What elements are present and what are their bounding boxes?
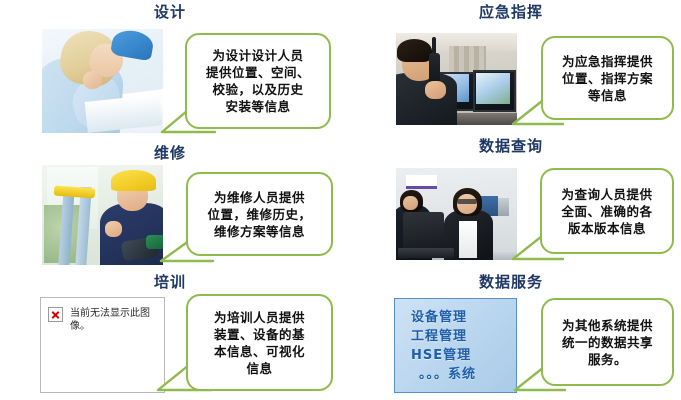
bubble-data-query: 为查询人员提供 全面、准确的各 版本版本信息 — [540, 168, 674, 254]
bubble-training: 为培训人员提供 装置、设备的基 本信息、可视化 信息 — [186, 294, 333, 391]
panel-emergency-command: 应急指挥 为应急指挥提供 位置、指挥方案 等信息 — [341, 0, 681, 140]
photo-maintenance — [42, 165, 163, 265]
panel-title-data-service: 数据服务 — [341, 273, 681, 291]
photo-monitor — [403, 212, 444, 252]
bubble-text-emergency-command: 为应急指挥提供 位置、指挥方案 等信息 — [556, 53, 659, 104]
broken-image-inner: 当前无法显示此图像。 — [41, 298, 164, 342]
service-line-others: 。。。系统 — [411, 365, 516, 384]
photo-person-hand — [105, 221, 122, 237]
photo-person-face-front — [457, 194, 478, 214]
bubble-emergency-command: 为应急指挥提供 位置、指挥方案 等信息 — [541, 36, 674, 120]
photo-person-face-back — [403, 196, 418, 211]
photo-shelf-box-2 — [498, 198, 509, 215]
broken-image-icon — [48, 307, 63, 322]
bubble-text-training: 为培训人员提供 装置、设备的基 本信息、可视化 信息 — [208, 309, 311, 377]
panel-training: 培训 当前无法显示此图像。 为培训人员提供 装置、设备的基 本信息、可视化 信息 — [0, 268, 340, 400]
photo-keyboard — [398, 248, 454, 258]
panel-data-query: 数据查询 为查询人员提供 全面、准确的各 版本版本信息 — [341, 133, 681, 268]
data-service-box: 设备管理 工程管理 HSE管理 。。。系统 — [394, 298, 517, 393]
photo-screen-right — [476, 73, 510, 104]
panel-title-data-query: 数据查询 — [341, 137, 681, 155]
panel-data-service: 数据服务 设备管理 工程管理 HSE管理 。。。系统 为其他系统提供 统一的数据… — [341, 268, 681, 400]
photo-data-query — [396, 168, 517, 260]
photo-person-body — [396, 73, 457, 125]
bubble-text-data-service: 为其他系统提供 统一的数据共享 服务。 — [556, 317, 659, 368]
bubble-maintenance: 为维修人员提供 位置，维修历史， 维修方案等信息 — [186, 172, 333, 256]
photo-person-hand — [425, 81, 446, 99]
photo-glasses — [457, 199, 478, 204]
photo-design — [42, 29, 163, 133]
panel-title-training: 培训 — [0, 273, 340, 291]
bubble-text-maintenance: 为维修人员提供 位置，维修历史， 维修方案等信息 — [201, 189, 317, 240]
bubble-data-service: 为其他系统提供 统一的数据共享 服务。 — [541, 298, 674, 386]
panel-maintenance: 维修 为维修人员提供 位置，维修历史， 维修方案等信息 — [0, 140, 340, 270]
service-line-equipment: 设备管理 — [411, 308, 516, 327]
panel-title-emergency-command: 应急指挥 — [341, 3, 681, 21]
service-line-engineering: 工程管理 — [411, 327, 516, 346]
panel-title-design: 设计 — [0, 3, 340, 21]
broken-image-training: 当前无法显示此图像。 — [40, 297, 165, 393]
bubble-text-design: 为设计设计人员 提供位置、空间、 校验，以及历史 安装等信息 — [200, 47, 316, 115]
photo-hard-hat — [111, 170, 156, 191]
service-line-hse: HSE管理 — [411, 346, 516, 365]
photo-drill — [146, 235, 163, 249]
photo-wall-sign — [406, 175, 437, 189]
panel-title-maintenance: 维修 — [0, 144, 340, 162]
bubble-text-data-query: 为查询人员提供 全面、准确的各 版本版本信息 — [555, 186, 658, 237]
bubble-design: 为设计设计人员 提供位置、空间、 校验，以及历史 安装等信息 — [185, 33, 331, 129]
photo-person-hair — [397, 39, 432, 63]
broken-image-text: 当前无法显示此图像。 — [70, 307, 157, 333]
photo-person-shirt — [459, 221, 477, 258]
panel-design: 设计 为设计设计人员 提供位置、空间、 校验，以及历史 安装等信息 — [0, 0, 340, 140]
photo-emergency-command — [396, 33, 517, 125]
